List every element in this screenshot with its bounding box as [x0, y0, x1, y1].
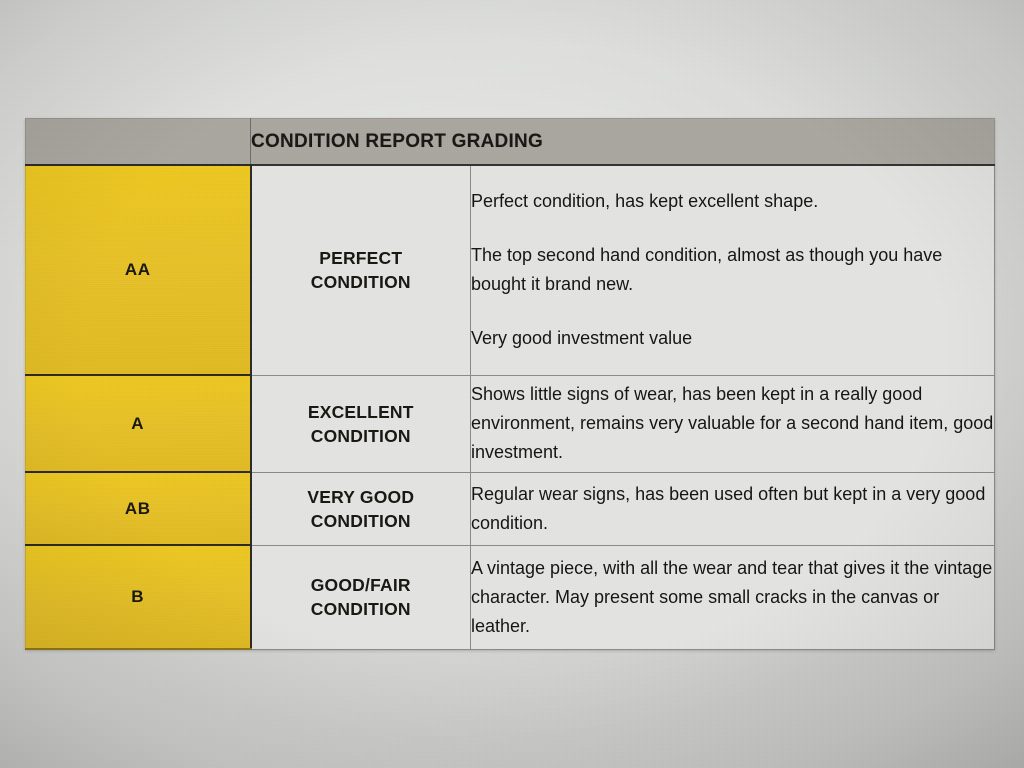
description-paragraph: Very good investment value [471, 324, 994, 353]
grade-label-b: GOOD/FAIR CONDITION [251, 545, 471, 649]
table-row: AA PERFECT CONDITION Perfect condition, … [26, 165, 995, 375]
table-body: AA PERFECT CONDITION Perfect condition, … [26, 165, 995, 649]
grade-label-aa: PERFECT CONDITION [251, 165, 471, 375]
grade-label-line2: CONDITION [311, 599, 411, 619]
grade-label-line2: CONDITION [311, 426, 411, 446]
photographed-page: CONDITION REPORT GRADING AA PERFECT COND… [0, 0, 1024, 768]
condition-report-grading-table: CONDITION REPORT GRADING AA PERFECT COND… [25, 118, 995, 650]
grade-code-a: A [26, 375, 251, 472]
grade-description-b: A vintage piece, with all the wear and t… [471, 545, 995, 649]
grading-table-container: CONDITION REPORT GRADING AA PERFECT COND… [25, 118, 994, 650]
grade-label-line2: CONDITION [311, 511, 411, 531]
description-paragraph: Shows little signs of wear, has been kep… [471, 380, 994, 467]
table-row: A EXCELLENT CONDITION Shows little signs… [26, 375, 995, 472]
grade-description-aa: Perfect condition, has kept excellent sh… [471, 165, 995, 375]
grade-label-ab: VERY GOOD CONDITION [251, 472, 471, 545]
table-row: AB VERY GOOD CONDITION Regular wear sign… [26, 472, 995, 545]
grade-label-line1: GOOD/FAIR [311, 575, 411, 595]
grade-label-line2: CONDITION [311, 272, 411, 292]
grade-code-aa: AA [26, 165, 251, 375]
table-header: CONDITION REPORT GRADING [26, 119, 995, 166]
grade-label-a: EXCELLENT CONDITION [251, 375, 471, 472]
grade-description-ab: Regular wear signs, has been used often … [471, 472, 995, 545]
header-spacer-cell [26, 119, 251, 166]
table-row: B GOOD/FAIR CONDITION A vintage piece, w… [26, 545, 995, 649]
grade-code-b: B [26, 545, 251, 649]
description-paragraph: A vintage piece, with all the wear and t… [471, 554, 994, 641]
grade-label-line1: EXCELLENT [308, 402, 414, 422]
grade-label-line1: PERFECT [319, 248, 402, 268]
grade-description-a: Shows little signs of wear, has been kep… [471, 375, 995, 472]
grade-label-line1: VERY GOOD [307, 487, 414, 507]
description-paragraph: Regular wear signs, has been used often … [471, 480, 994, 538]
grade-code-ab: AB [26, 472, 251, 545]
header-row: CONDITION REPORT GRADING [26, 119, 995, 166]
page-title: CONDITION REPORT GRADING [251, 119, 995, 166]
description-paragraph: The top second hand condition, almost as… [471, 241, 994, 299]
description-paragraph: Perfect condition, has kept excellent sh… [471, 187, 994, 216]
